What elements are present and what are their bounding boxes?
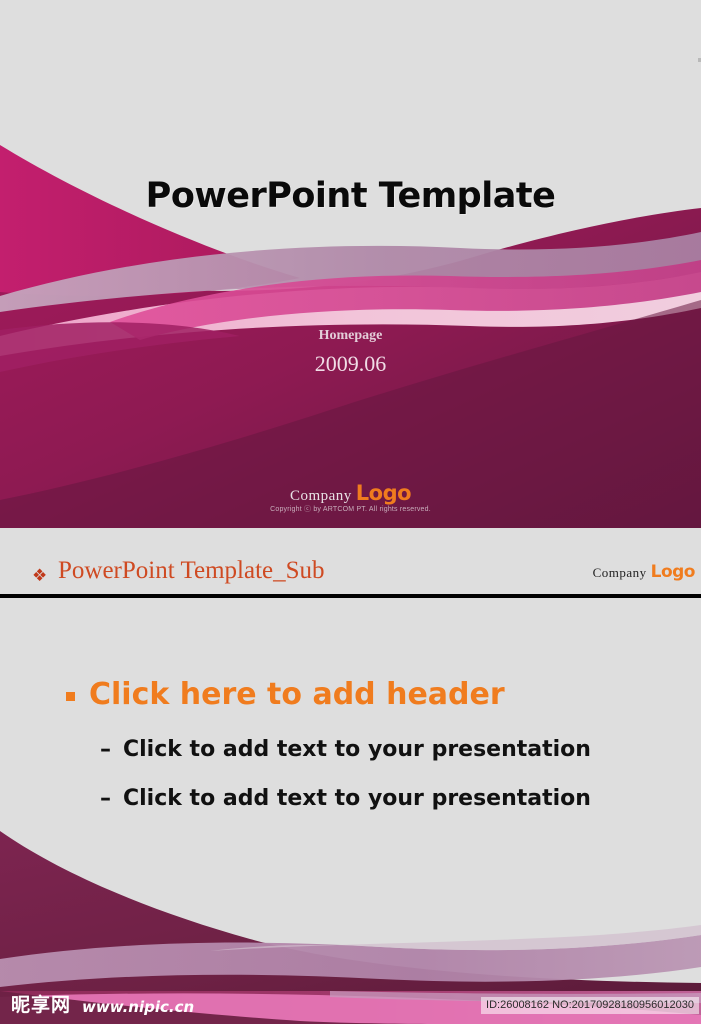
title-slide-logo-word: Logo bbox=[356, 481, 411, 505]
title-slide-copyright: Copyright ⓒ by ARTCOM PT. All rights res… bbox=[0, 504, 701, 514]
diamond-bullet-icon: ❖ bbox=[32, 567, 47, 584]
title-slide-homepage-label: Homepage bbox=[0, 328, 701, 344]
footer-id-badge: ID:26008162 NO:20170928180956012030 bbox=[481, 997, 699, 1014]
content-slide-subtitle: PowerPoint Template_Sub bbox=[58, 557, 325, 585]
content-slide: ❖ PowerPoint Template_Sub CompanyLogo Cl… bbox=[0, 528, 701, 991]
footer-site-logo[interactable]: 昵享网 bbox=[11, 996, 71, 1015]
content-slide-header: ❖ PowerPoint Template_Sub CompanyLogo bbox=[0, 556, 701, 594]
content-slide-logo: CompanyLogo bbox=[593, 564, 695, 581]
body-header-text: Click here to add header bbox=[89, 677, 505, 712]
dash-bullet-icon: – bbox=[100, 737, 111, 762]
screenshot-page: PowerPoint Template Homepage 2009.06 Com… bbox=[0, 0, 701, 1024]
body-text-line-text: Click to add text to your presentation bbox=[123, 786, 591, 811]
title-slide-heading: PowerPoint Template bbox=[0, 176, 701, 216]
dash-bullet-icon: – bbox=[100, 786, 111, 811]
title-slide-logo: CompanyLogo bbox=[0, 483, 701, 504]
title-slide: PowerPoint Template Homepage 2009.06 Com… bbox=[0, 0, 701, 528]
title-slide-logo-company: Company bbox=[290, 488, 352, 504]
footer-site-url[interactable]: www.nipic.cn bbox=[82, 1000, 194, 1015]
body-text-line[interactable]: –Click to add text to your presentation bbox=[100, 736, 701, 764]
content-slide-decorative-waves bbox=[0, 831, 701, 991]
body-text-line-text: Click to add text to your presentation bbox=[123, 737, 591, 762]
header-divider-rule bbox=[0, 594, 701, 598]
square-bullet-icon bbox=[66, 692, 75, 701]
site-footer: 昵享网 www.nipic.cn ID:26008162 NO:20170928… bbox=[0, 991, 701, 1024]
body-header-placeholder[interactable]: Click here to add header bbox=[66, 676, 701, 714]
title-slide-date: 2009.06 bbox=[0, 351, 701, 377]
content-slide-logo-word: Logo bbox=[651, 562, 695, 582]
body-text-line[interactable]: –Click to add text to your presentation bbox=[100, 785, 701, 813]
content-slide-logo-company: Company bbox=[593, 565, 647, 580]
title-slide-decorative-waves bbox=[0, 0, 701, 528]
